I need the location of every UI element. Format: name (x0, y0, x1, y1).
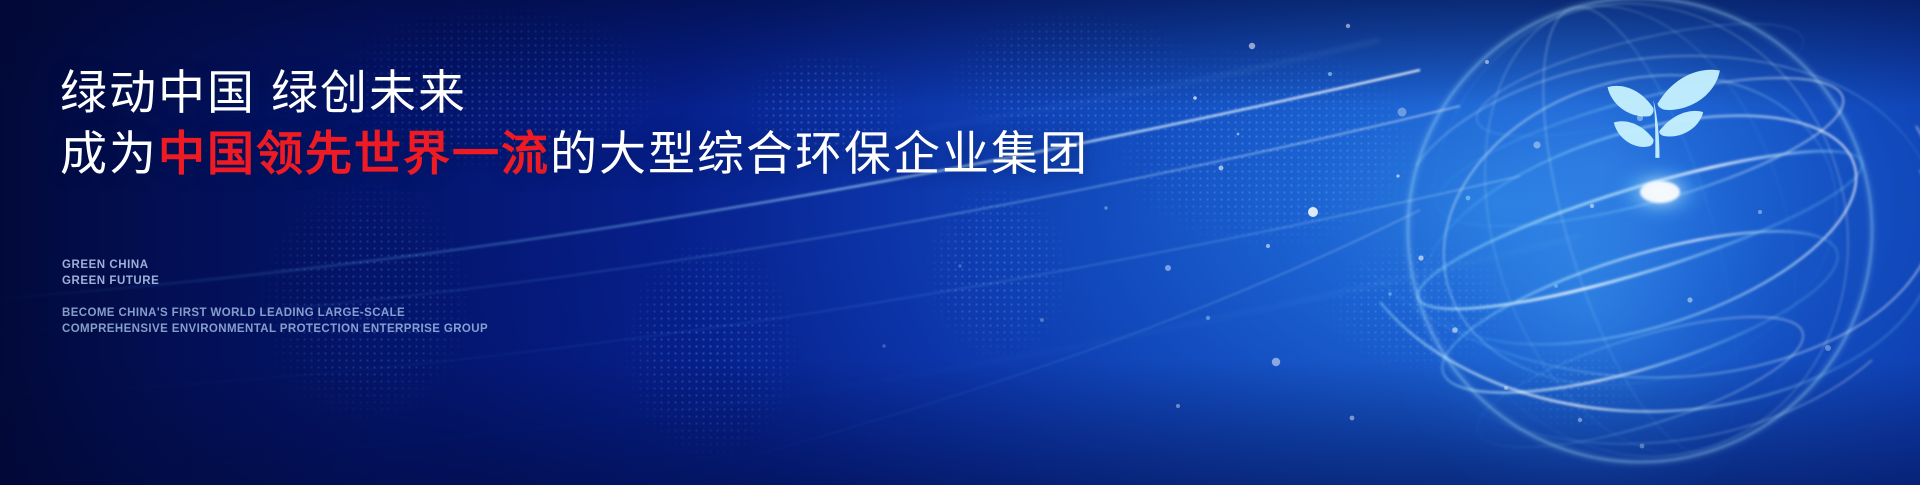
tagline-line-1: GREEN CHINA (62, 257, 159, 273)
headline-line-2-highlight: 中国领先世界一流 (158, 127, 550, 180)
subtitle-line-1: BECOME CHINA'S FIRST WORLD LEADING LARGE… (62, 305, 488, 321)
headline-line-2-prefix: 成为 (60, 127, 158, 180)
headline-block: 绿动中国 绿创未来 成为中国领先世界一流的大型综合环保企业集团 (60, 64, 1060, 183)
tagline-line-2: GREEN FUTURE (62, 273, 159, 289)
hero-banner: 绿动中国 绿创未来 成为中国领先世界一流的大型综合环保企业集团 GREEN CH… (0, 0, 1920, 485)
headline-line-1: 绿动中国 绿创未来 (60, 64, 1060, 121)
tagline-english: GREEN CHINA GREEN FUTURE (62, 257, 159, 290)
headline-line-2-suffix: 的大型综合环保企业集团 (550, 127, 1089, 180)
headline-line-2: 成为中国领先世界一流的大型综合环保企业集团 (60, 125, 1060, 182)
subtitle-line-2: COMPREHENSIVE ENVIRONMENTAL PROTECTION E… (62, 321, 488, 337)
subtitle-english: BECOME CHINA'S FIRST WORLD LEADING LARGE… (62, 305, 488, 338)
